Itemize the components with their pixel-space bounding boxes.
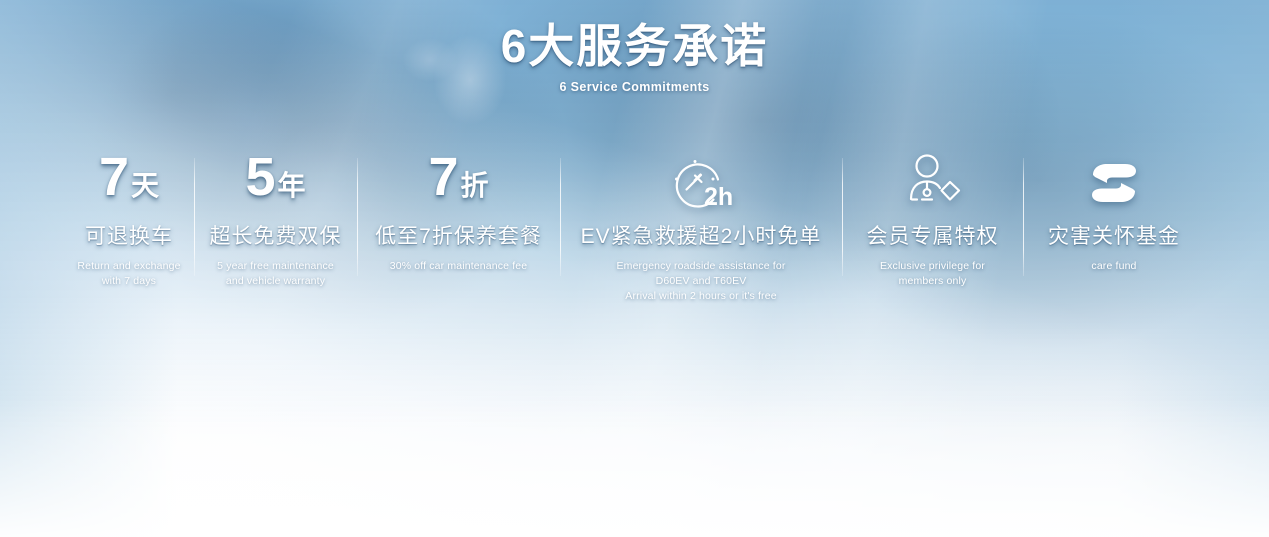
member-diamond-icon bbox=[902, 150, 964, 216]
commitment-label-en: 30% off car maintenance fee bbox=[390, 259, 528, 274]
metric-7-discount: 7 折 bbox=[428, 150, 488, 216]
icon-badge-2h: 2h bbox=[704, 183, 733, 211]
commitments-row: 7 天 可退换车 Return and exchange with 7 days… bbox=[0, 150, 1269, 303]
metric-number: 5 bbox=[245, 150, 274, 204]
commitment-label-en: Return and exchange with 7 days bbox=[77, 259, 180, 289]
caption-line: care fund bbox=[1091, 259, 1136, 274]
banner-content: 6大服务承诺 6 Service Commitments 7 天 可退换车 Re… bbox=[0, 0, 1269, 537]
commitment-item-maintenance-discount: 7 折 低至7折保养套餐 30% off car maintenance fee bbox=[357, 150, 560, 274]
commitment-item-ev-roadside-assistance: 2h EV紧急救援超2小时免单 Emergency roadside assis… bbox=[560, 150, 842, 303]
metric-5-years: 5 年 bbox=[245, 150, 305, 216]
metric-number: 7 bbox=[428, 150, 457, 204]
caption-line: with 7 days bbox=[77, 274, 180, 289]
metric-unit: 天 bbox=[131, 172, 159, 200]
caption-line: members only bbox=[880, 274, 985, 289]
commitment-label-en: Exclusive privilege for members only bbox=[880, 259, 985, 289]
caption-line: 30% off car maintenance fee bbox=[390, 259, 528, 274]
service-commitments-banner: 6大服务承诺 6 Service Commitments 7 天 可退换车 Re… bbox=[0, 0, 1269, 537]
caring-hands-icon bbox=[1085, 150, 1143, 216]
banner-subtitle: 6 Service Commitments bbox=[0, 80, 1269, 94]
caption-line: Return and exchange bbox=[77, 259, 180, 274]
commitment-label-en: care fund bbox=[1091, 259, 1136, 274]
commitment-item-free-maintenance-warranty: 5 年 超长免费双保 5 year free maintenance and v… bbox=[194, 150, 357, 289]
caption-line: 5 year free maintenance bbox=[217, 259, 334, 274]
banner-heading: 6大服务承诺 6 Service Commitments bbox=[0, 22, 1269, 94]
commitment-label-cn: 灾害关怀基金 bbox=[1048, 225, 1180, 250]
commitment-label-cn: 超长免费双保 bbox=[210, 225, 342, 250]
commitment-label-cn: EV紧急救援超2小时免单 bbox=[581, 225, 822, 250]
commitment-label-cn: 可退换车 bbox=[85, 225, 173, 250]
commitment-label-en: 5 year free maintenance and vehicle warr… bbox=[217, 259, 334, 289]
commitment-item-return-and-exchange: 7 天 可退换车 Return and exchange with 7 days bbox=[64, 150, 194, 289]
commitment-label-cn: 低至7折保养套餐 bbox=[375, 225, 542, 250]
caption-line: and vehicle warranty bbox=[217, 274, 334, 289]
caption-line: Exclusive privilege for bbox=[880, 259, 985, 274]
caption-line: Emergency roadside assistance for bbox=[617, 259, 786, 274]
commitment-label-en: Emergency roadside assistance for D60EV … bbox=[617, 259, 786, 304]
commitment-item-disaster-care-fund: 灾害关怀基金 care fund bbox=[1023, 150, 1205, 274]
caption-line: D60EV and T60EV bbox=[617, 274, 786, 289]
metric-7-days: 7 天 bbox=[99, 150, 159, 216]
caption-line: Arrival within 2 hours or it's free bbox=[617, 289, 786, 304]
clock-wrench-2h-icon: 2h bbox=[664, 150, 738, 216]
commitment-label-cn: 会员专属特权 bbox=[867, 225, 999, 250]
metric-unit: 折 bbox=[461, 172, 489, 200]
commitment-item-member-privilege: 会员专属特权 Exclusive privilege for members o… bbox=[842, 150, 1023, 289]
banner-title: 6大服务承诺 bbox=[0, 22, 1269, 72]
metric-number: 7 bbox=[99, 150, 128, 204]
metric-unit: 年 bbox=[278, 172, 306, 200]
